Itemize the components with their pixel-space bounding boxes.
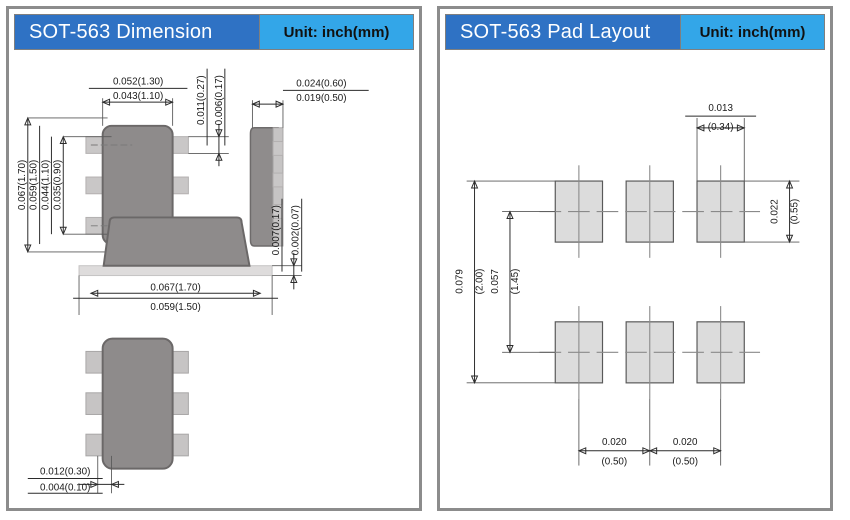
bottom-view: 0.012(0.30) 0.004(0.10) — [28, 339, 189, 494]
pad-width-mm: (0.34) — [708, 122, 734, 133]
pad-drawing-canvas: 0.013 (0.34) 0.022 (0.55) 0.079 (2.00) — [445, 56, 825, 503]
pad-unit-block: Unit: inch(mm) — [681, 14, 825, 50]
pad-height-inch: 0.022 — [770, 199, 781, 224]
pad-width-inch: 0.013 — [708, 103, 733, 114]
top-view-width-max: 0.052(1.30) — [113, 76, 163, 87]
dimension-header: SOT-563 Dimension Unit: inch(mm) — [14, 14, 414, 50]
dimension-unit-label: Unit: inch(mm) — [284, 24, 390, 41]
pad-height-mm: (0.55) — [789, 199, 800, 225]
side-view-width-max: 0.024(0.60) — [296, 78, 346, 89]
dimension-title-block: SOT-563 Dimension — [14, 14, 260, 50]
top-view-lead-thickness-min: 0.006(0.17) — [214, 75, 225, 125]
pad-header: SOT-563 Pad Layout Unit: inch(mm) — [445, 14, 825, 50]
front-view-width-max: 0.067(1.70) — [150, 282, 200, 293]
pad-span-outer-inch: 0.079 — [455, 269, 466, 294]
top-view-height-mid-a: 0.059(1.50) — [29, 160, 40, 210]
top-view-height-mid-b: 0.044(1.10) — [40, 160, 51, 210]
top-view-height-min: 0.035(0.90) — [52, 160, 63, 210]
pad-row-bottom — [540, 306, 761, 399]
pad-span-outer-mm: (2.00) — [474, 269, 485, 295]
pad-pitch-right-mm: (0.50) — [672, 457, 698, 468]
pad-span-inner-mm: (1.45) — [510, 269, 521, 295]
side-view: 0.024(0.60) 0.019(0.50) — [250, 78, 368, 246]
pad-title-block: SOT-563 Pad Layout — [445, 14, 681, 50]
top-view-width-min: 0.043(1.10) — [113, 91, 163, 102]
top-view-lead-thickness-max: 0.011(0.27) — [196, 75, 207, 125]
pad-pitch-dimensions: 0.020 (0.50) 0.020 (0.50) — [579, 399, 721, 468]
dimension-title: SOT-563 Dimension — [15, 21, 212, 44]
pad-span-inner-inch: 0.057 — [490, 269, 501, 294]
dimension-drawing-canvas: 0.052(1.30) 0.043(1.10) 0.067(1.70) 0.05… — [14, 56, 414, 503]
bottom-view-lead-width-min: 0.004(0.10) — [40, 482, 90, 493]
front-view-standoff-min: 0.002(0.07) — [291, 205, 302, 255]
bottom-view-lead-width-max: 0.012(0.30) — [40, 467, 90, 478]
dimension-unit-block: Unit: inch(mm) — [260, 14, 414, 50]
panel-sot563-dimension: SOT-563 Dimension Unit: inch(mm) — [6, 6, 422, 511]
pad-title: SOT-563 Pad Layout — [446, 21, 650, 44]
pad-pitch-left-inch: 0.020 — [602, 437, 627, 448]
side-view-width-min: 0.019(0.50) — [296, 93, 346, 104]
pad-unit-label: Unit: inch(mm) — [700, 24, 806, 41]
pad-row-top — [540, 165, 761, 258]
front-view-standoff-max: 0.007(0.17) — [271, 205, 282, 255]
pad-span-dimensions: 0.079 (2.00) 0.057 (1.45) — [455, 181, 556, 383]
top-view-height-max: 0.067(1.70) — [17, 160, 28, 210]
panel-sot563-pad-layout: SOT-563 Pad Layout Unit: inch(mm) — [437, 6, 833, 511]
pad-pitch-right-inch: 0.020 — [673, 437, 698, 448]
front-view-width-min: 0.059(1.50) — [150, 302, 200, 313]
pad-pitch-left-mm: (0.50) — [601, 457, 627, 468]
